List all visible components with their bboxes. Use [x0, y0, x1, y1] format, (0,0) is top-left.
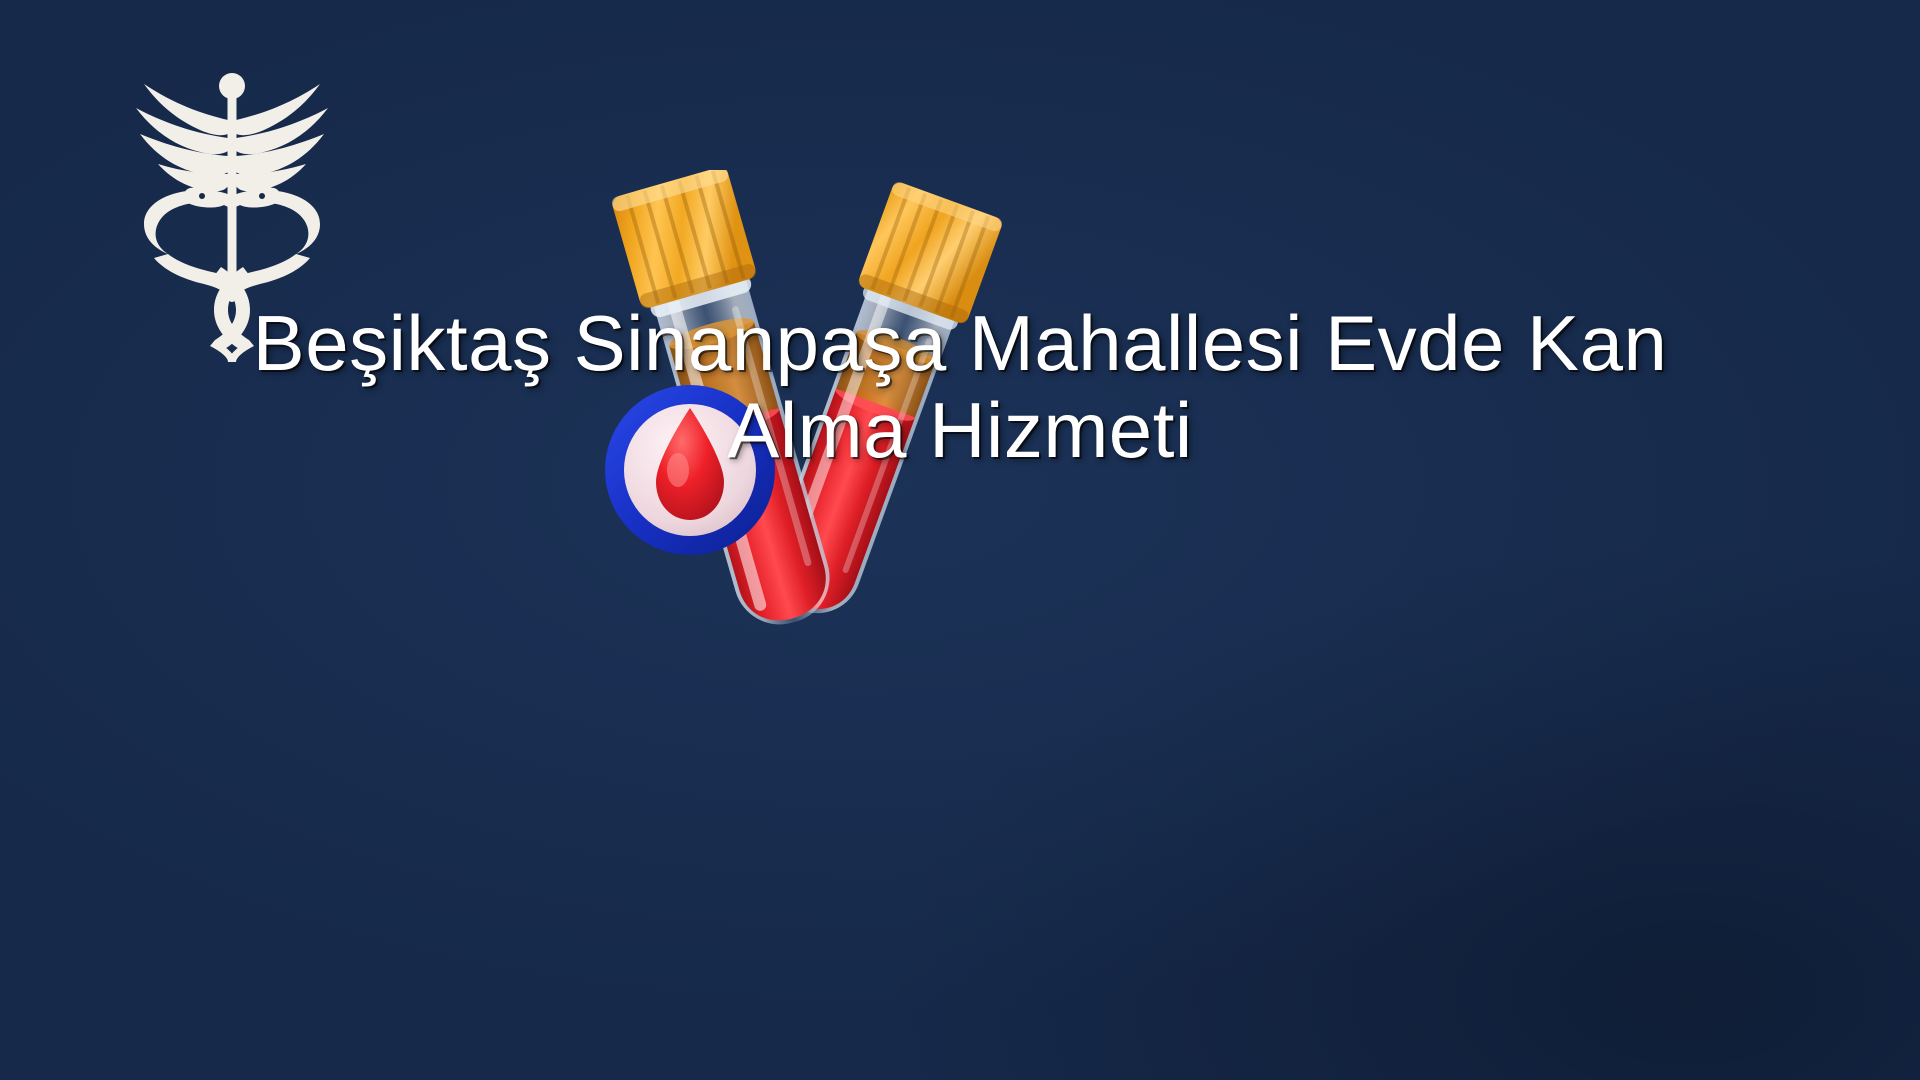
page-banner: Beşiktaş Sinanpaşa Mahallesi Evde Kan Al… — [0, 0, 1920, 1080]
page-title: Beşiktaş Sinanpaşa Mahallesi Evde Kan Al… — [90, 300, 1830, 475]
banner-title-container: Beşiktaş Sinanpaşa Mahallesi Evde Kan Al… — [0, 300, 1920, 475]
